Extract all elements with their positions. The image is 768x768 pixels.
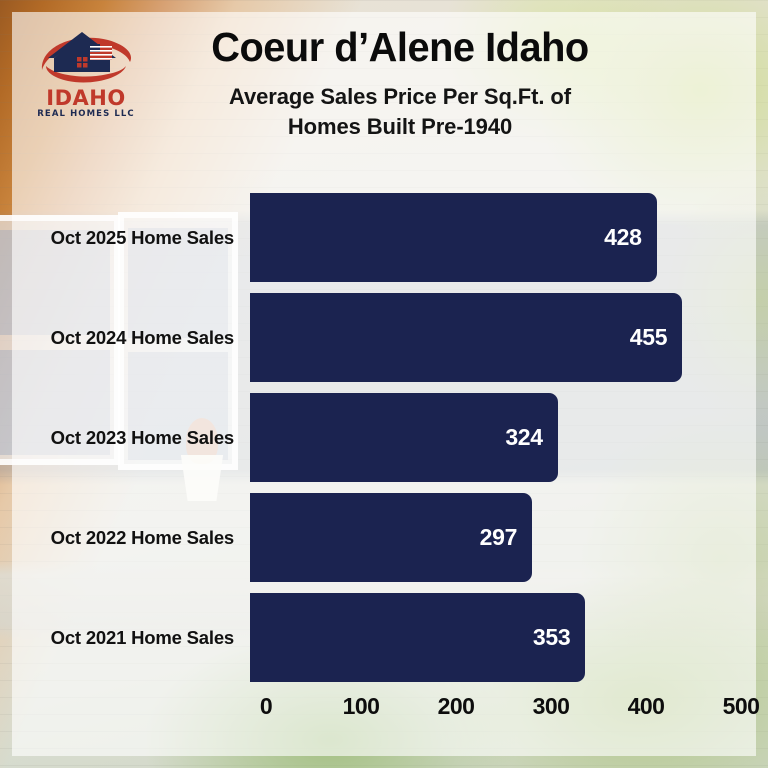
bar-chart: Oct 2025 Home Sales428Oct 2024 Home Sale… bbox=[0, 185, 768, 768]
bar-category-label: Oct 2021 Home Sales bbox=[0, 627, 250, 649]
title-block: Coeur d’Alene Idaho Average Sales Price … bbox=[150, 22, 650, 142]
x-axis-tick-label: 200 bbox=[438, 693, 475, 720]
bar-category-label: Oct 2022 Home Sales bbox=[0, 527, 250, 549]
bar-rows: Oct 2025 Home Sales428Oct 2024 Home Sale… bbox=[0, 193, 768, 693]
bar-track: 455 bbox=[250, 293, 768, 382]
brand-tagline: REAL HOMES LLC bbox=[30, 109, 142, 120]
bar-value-label: 428 bbox=[604, 224, 656, 251]
x-axis-tick-label: 100 bbox=[343, 693, 380, 720]
page-title: Coeur d’Alene Idaho bbox=[158, 22, 643, 72]
bar-row: Oct 2022 Home Sales297 bbox=[0, 493, 768, 582]
header: IDAHO REAL HOMES LLC Coeur d’Alene Idaho… bbox=[0, 0, 768, 185]
bar-row: Oct 2024 Home Sales455 bbox=[0, 293, 768, 382]
infographic-canvas: IDAHO REAL HOMES LLC Coeur d’Alene Idaho… bbox=[0, 0, 768, 768]
x-axis: 0100200300400500 bbox=[266, 693, 741, 733]
house-swoosh-logo-icon bbox=[30, 26, 142, 88]
x-axis-tick-label: 500 bbox=[723, 693, 760, 720]
x-axis-tick-label: 0 bbox=[260, 693, 272, 720]
x-axis-tick-label: 400 bbox=[628, 693, 665, 720]
page-subtitle-line2: Homes Built Pre-1940 bbox=[150, 112, 650, 142]
bar-track: 353 bbox=[250, 593, 768, 682]
bar-row: Oct 2023 Home Sales324 bbox=[0, 393, 768, 482]
bar[interactable]: 455 bbox=[250, 293, 682, 382]
bar[interactable]: 324 bbox=[250, 393, 558, 482]
bar-track: 428 bbox=[250, 193, 768, 282]
bar-value-label: 324 bbox=[505, 424, 557, 451]
bar[interactable]: 297 bbox=[250, 493, 532, 582]
brand-logo[interactable]: IDAHO REAL HOMES LLC bbox=[30, 26, 142, 112]
bar-category-label: Oct 2025 Home Sales bbox=[0, 227, 250, 249]
bar-category-label: Oct 2023 Home Sales bbox=[0, 427, 250, 449]
bar-value-label: 353 bbox=[533, 624, 585, 651]
x-axis-tick-label: 300 bbox=[533, 693, 570, 720]
bar-value-label: 297 bbox=[480, 524, 532, 551]
bar[interactable]: 353 bbox=[250, 593, 585, 682]
brand-name: IDAHO bbox=[30, 88, 142, 108]
bar-track: 324 bbox=[250, 393, 768, 482]
bar-track: 297 bbox=[250, 493, 768, 582]
page-subtitle: Average Sales Price Per Sq.Ft. of Homes … bbox=[150, 82, 650, 142]
bar[interactable]: 428 bbox=[250, 193, 657, 282]
bar-row: Oct 2021 Home Sales353 bbox=[0, 593, 768, 682]
bar-value-label: 455 bbox=[630, 324, 682, 351]
bar-row: Oct 2025 Home Sales428 bbox=[0, 193, 768, 282]
bar-category-label: Oct 2024 Home Sales bbox=[0, 327, 250, 349]
page-subtitle-line1: Average Sales Price Per Sq.Ft. of bbox=[150, 82, 650, 112]
